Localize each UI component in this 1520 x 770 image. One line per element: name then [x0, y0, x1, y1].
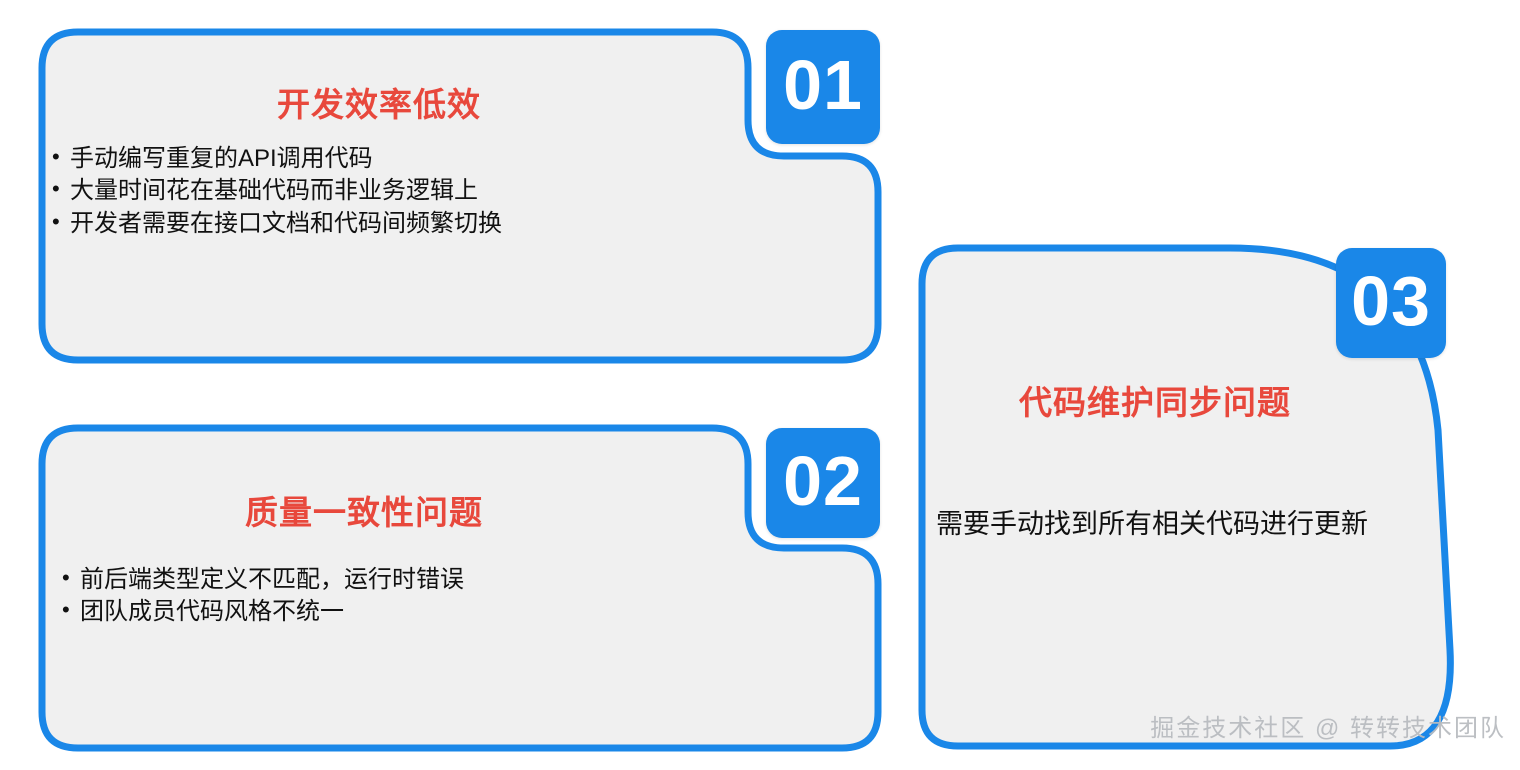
card-3-title: 代码维护同步问题	[1019, 376, 1291, 424]
card-2-badge: 02	[766, 428, 880, 538]
card-2-bullet-item: 团队成员代码风格不统一	[62, 596, 464, 628]
card-3-body-text: 需要手动找到所有相关代码进行更新	[936, 502, 1368, 541]
card-1-bullet-item: 大量时间花在基础代码而非业务逻辑上	[52, 175, 502, 207]
card-1-badge-number: 01	[783, 50, 863, 120]
card-3-badge: 03	[1336, 248, 1446, 358]
card-1-badge: 01	[766, 30, 880, 144]
card-2-shape	[0, 0, 1520, 770]
watermark-text: 掘金技术社区 @ 转转技术团队	[1150, 708, 1506, 743]
card-1-bullet-item: 开发者需要在接口文档和代码间频繁切换	[52, 208, 502, 240]
card-2-bullet-list: 前后端类型定义不匹配，运行时错误 团队成员代码风格不统一	[62, 564, 464, 629]
card-2-bullet-item: 前后端类型定义不匹配，运行时错误	[62, 564, 464, 596]
card-1-shape	[0, 0, 1520, 770]
card-2-badge-number: 02	[783, 446, 863, 516]
card-3-shape	[0, 0, 1520, 770]
card-2-title: 质量一致性问题	[245, 486, 483, 534]
card-1-bullet-item: 手动编写重复的API调用代码	[52, 143, 502, 175]
card-1-bullet-list: 手动编写重复的API调用代码 大量时间花在基础代码而非业务逻辑上 开发者需要在接…	[52, 143, 502, 240]
slide-canvas: 01 开发效率低效 手动编写重复的API调用代码 大量时间花在基础代码而非业务逻…	[0, 0, 1520, 770]
card-3-badge-number: 03	[1351, 266, 1431, 336]
card-1-title: 开发效率低效	[277, 78, 481, 126]
